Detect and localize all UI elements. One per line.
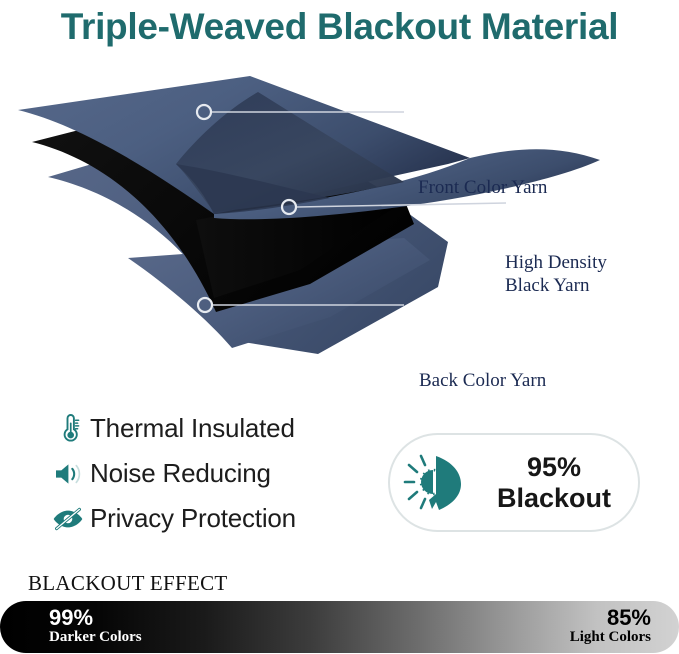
sun-blocked-icon [390,452,482,514]
callout-line-1: High Density [505,251,607,274]
effect-darker-caption: Darker Colors [49,629,142,646]
blackout-label: Blackout [497,483,611,513]
blackout-percent: 95% [527,452,581,482]
feature-label-thermal-insulated: Thermal Insulated [90,413,295,444]
effect-light-caption: Light Colors [570,629,651,646]
blackout-effect-gradient-bar: 99% Darker Colors 85% Light Colors [0,601,679,653]
callout-label-high-density-black-yarn: High Density Black Yarn [505,251,607,297]
feature-list: Thermal Insulated Noise Reducing Privacy… [46,406,356,541]
effect-darker-colors: 99% Darker Colors [49,606,142,646]
feature-label-privacy-protection: Privacy Protection [90,503,296,534]
triple-layer-fabric-diagram: Front Color Yarn High Density Black Yarn… [0,72,679,362]
callout-label-front-color-yarn: Front Color Yarn [418,176,547,199]
callout-line-2: Black Yarn [505,274,607,297]
blackout-badge-text: 95% Blackout [482,452,638,512]
effect-light-percent: 85% [570,606,651,629]
effect-light-colors: 85% Light Colors [570,606,651,646]
eye-off-icon [46,506,90,532]
feature-label-noise-reducing: Noise Reducing [90,458,271,489]
blackout-effect-heading: BLACKOUT EFFECT [28,571,228,596]
speaker-icon [46,461,90,487]
page-title: Triple-Weaved Blackout Material [0,6,679,48]
feature-item-noise-reducing: Noise Reducing [46,451,356,496]
blackout-badge: 95% Blackout [388,433,640,532]
feature-item-thermal-insulated: Thermal Insulated [46,406,356,451]
callout-label-back-color-yarn: Back Color Yarn [419,369,546,392]
thermometer-icon [46,414,90,444]
effect-darker-percent: 99% [49,606,142,629]
feature-item-privacy-protection: Privacy Protection [46,496,356,541]
